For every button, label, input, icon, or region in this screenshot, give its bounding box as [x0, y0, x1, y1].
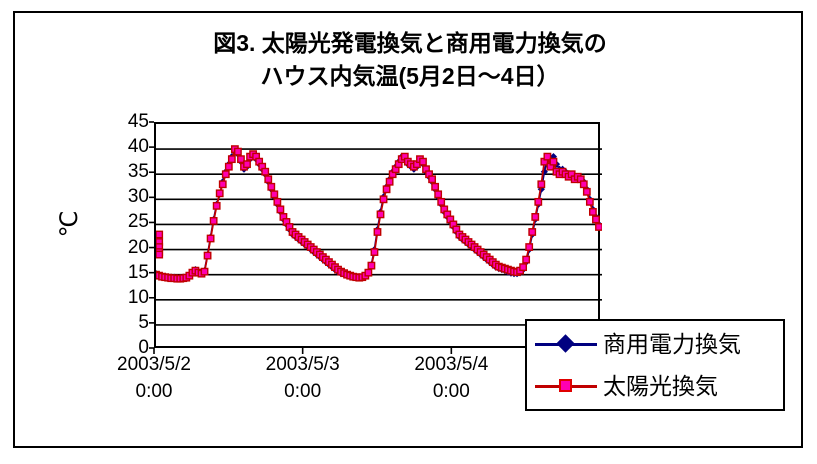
y-tick-label: 40 — [128, 137, 149, 156]
y-tick-label: 5 — [138, 313, 149, 332]
x-tick-label: 2003/5/30:00 — [223, 351, 383, 405]
x-tick-time: 0:00 — [74, 378, 234, 405]
plot-wrapper — [154, 122, 600, 348]
x-tick-date: 2003/5/4 — [371, 351, 531, 378]
y-axis-title-label: ℃ — [55, 209, 85, 239]
y-tick-label: 35 — [128, 162, 149, 181]
legend-label-solar: 太陽光換気 — [597, 373, 718, 399]
y-tick-label: 10 — [128, 288, 149, 307]
x-tick-time: 0:00 — [223, 378, 383, 405]
x-tick-date: 2003/5/2 — [74, 351, 234, 378]
x-tick-time: 0:00 — [371, 378, 531, 405]
legend-item-commercial-power[interactable]: 商用電力換気 — [535, 324, 741, 364]
y-tick-label: 15 — [128, 263, 149, 282]
figure-frame: 図3. 太陽光発電換気と商用電力換気の ハウス内気温(5月2日～4日） ℃ 05… — [13, 11, 803, 448]
y-tick-label: 25 — [128, 212, 149, 231]
y-tick-label: 45 — [128, 112, 149, 131]
y-tick-label: 20 — [128, 238, 149, 257]
y-axis-tick-labels: 051015202530354045 — [103, 122, 149, 348]
legend-label-commercial-power: 商用電力換気 — [597, 331, 741, 357]
chart-title: 図3. 太陽光発電換気と商用電力換気の ハウス内気温(5月2日～4日） — [15, 27, 805, 93]
chart-legend: 商用電力換気 太陽光換気 — [525, 319, 785, 411]
legend-item-solar[interactable]: 太陽光換気 — [535, 366, 718, 406]
y-axis-title: ℃ — [55, 209, 85, 269]
y-tick-label: 30 — [128, 187, 149, 206]
x-tick-label: 2003/5/20:00 — [74, 351, 234, 405]
y-axis-ticks — [154, 122, 600, 348]
x-tick-label: 2003/5/40:00 — [371, 351, 531, 405]
x-tick-date: 2003/5/3 — [223, 351, 383, 378]
legend-symbol-diamond-icon — [535, 333, 597, 355]
legend-symbol-square-icon — [535, 375, 597, 397]
